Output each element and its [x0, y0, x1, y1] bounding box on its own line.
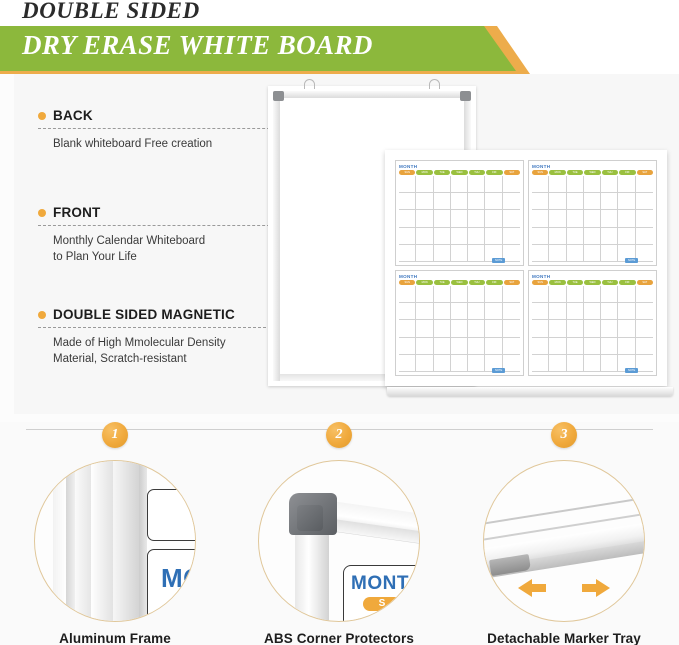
- calendar-cell: [532, 210, 549, 227]
- calendar-day-header-row: SUNMONTUEWEDTHUFRISAT: [399, 280, 520, 285]
- calendar-cell: [532, 176, 549, 193]
- annotation-back-body: Blank whiteboard Free creation: [38, 136, 300, 152]
- frame-profile-band: [113, 460, 139, 622]
- calendar-day-pill: SUN: [399, 170, 415, 175]
- calendar-cell: [601, 176, 618, 193]
- calendar-cell: [503, 193, 520, 210]
- calendar-cell: [451, 193, 468, 210]
- annotation-front-rule: [38, 225, 300, 226]
- annotation-front-body: Monthly Calendar Whiteboard to Plan Your…: [38, 233, 300, 266]
- calendar-cell: [567, 355, 584, 372]
- board-edge-line: [483, 494, 645, 525]
- calendar-cell: [503, 176, 520, 193]
- calendar-cell: [549, 303, 566, 320]
- calendar-grid: [399, 286, 520, 372]
- calendar-cell: [399, 286, 416, 303]
- calendar-cell: [399, 228, 416, 245]
- calendar-cell: [416, 228, 433, 245]
- calendar-cell: [567, 193, 584, 210]
- calendar-day-pill: SUN: [399, 280, 415, 285]
- calendar-cell: [584, 245, 601, 262]
- calendar-cell: [451, 355, 468, 372]
- feature-badge-2: 2: [326, 422, 352, 448]
- calendar-cell: [399, 355, 416, 372]
- calendar-cell: [549, 355, 566, 372]
- calendar-cell: [636, 176, 653, 193]
- photo-day-pill-2: S: [363, 597, 401, 611]
- calendar-cell: [532, 303, 549, 320]
- calendar-cell: [567, 228, 584, 245]
- calendar-cell: [451, 303, 468, 320]
- back-frame-rail-top: [273, 91, 471, 98]
- calendar-cell: [416, 320, 433, 337]
- calendar-cell: [532, 320, 549, 337]
- calendar-cell: [399, 210, 416, 227]
- calendar-cell: [567, 210, 584, 227]
- calendar-day-pill: SAT: [637, 170, 653, 175]
- calendar-cell: [416, 303, 433, 320]
- calendar-cell: [636, 193, 653, 210]
- calendar-cell: [416, 176, 433, 193]
- calendar-day-pill: WED: [584, 170, 600, 175]
- calendar-day-pill: TUE: [434, 280, 450, 285]
- calendar-cell: [584, 193, 601, 210]
- calendar-day-pill: TUE: [567, 170, 583, 175]
- calendar-day-pill: WED: [584, 280, 600, 285]
- corner-protector-icon: [273, 91, 284, 101]
- calendar-cell: [636, 320, 653, 337]
- calendar-cell: [532, 338, 549, 355]
- calendar-cell: [601, 228, 618, 245]
- calendar-cell: [636, 228, 653, 245]
- feature-aluminum-frame: 1 MO Aluminum Frame: [2, 422, 228, 645]
- whiteboard-front-calendar: MONTHSUNMONTUEWEDTHUFRISATNOTEMONTHSUNMO…: [385, 150, 667, 386]
- annotation-back: BACK Blank whiteboard Free creation: [38, 108, 300, 152]
- calendar-cell: [399, 320, 416, 337]
- annotation-front-title: FRONT: [53, 205, 101, 220]
- annotation-back-head: BACK: [38, 108, 300, 123]
- calendar-cell: [416, 338, 433, 355]
- calendar-cell: [434, 286, 451, 303]
- calendar-cell: [468, 320, 485, 337]
- calendar-cell: [468, 245, 485, 262]
- calendar-cell: [485, 193, 502, 210]
- calendar-cell: [601, 245, 618, 262]
- calendar-cell: [399, 193, 416, 210]
- calendar-cell: [399, 176, 416, 193]
- calendar-cell: [468, 210, 485, 227]
- calendar-month-label: MONTH: [399, 274, 520, 279]
- calendar-day-pill: SUN: [532, 280, 548, 285]
- feature-photo-1: MO: [34, 460, 196, 622]
- calendar-cell: [503, 210, 520, 227]
- calendar-cell: [485, 210, 502, 227]
- feature-detachable-marker-tray: 3 Detachable Marker Tray: [451, 422, 677, 645]
- arrow-left-tail: [532, 584, 546, 592]
- abs-corner-protector-inner: [297, 505, 323, 531]
- calendar-cell: [618, 210, 635, 227]
- calendar-cell: [636, 355, 653, 372]
- calendar-day-pill: SAT: [504, 280, 520, 285]
- calendar-cell: [485, 286, 502, 303]
- calendar-day-pill: MON: [416, 280, 432, 285]
- photo-month-text-2: MONT: [351, 573, 409, 595]
- calendar-cell: [485, 303, 502, 320]
- frame-profile-band: [53, 460, 66, 622]
- calendar-grid: [532, 176, 653, 262]
- calendar-cell: [618, 320, 635, 337]
- feature-photo-2: MONT S: [258, 460, 420, 622]
- calendar-grid: [532, 286, 653, 372]
- calendar-cell: [584, 338, 601, 355]
- calendar-cell: [434, 228, 451, 245]
- calendar-cell: [618, 176, 635, 193]
- calendar-cell: [416, 355, 433, 372]
- bullet-dot-icon: [38, 209, 46, 217]
- calendar-cell: [468, 193, 485, 210]
- calendar-cell: [567, 176, 584, 193]
- calendar-cell: [584, 176, 601, 193]
- calendar-cell: [399, 245, 416, 262]
- feature-photo-3: [483, 460, 645, 622]
- calendar-day-pill: THU: [602, 170, 618, 175]
- calendar-cell: [584, 355, 601, 372]
- calendar-note-label: NOTE: [625, 368, 638, 373]
- calendar-day-pill: THU: [469, 170, 485, 175]
- calendar-day-pill: MON: [416, 170, 432, 175]
- calendar-edge-card: [147, 489, 196, 541]
- calendar-cell: [601, 286, 618, 303]
- calendar-cell: [434, 245, 451, 262]
- arrow-right-icon: [596, 579, 610, 597]
- calendar-quadrant: MONTHSUNMONTUEWEDTHUFRISATNOTE: [395, 270, 524, 376]
- calendar-day-pill: SAT: [637, 280, 653, 285]
- calendar-month-label: MONTH: [399, 164, 520, 169]
- calendar-cell: [451, 320, 468, 337]
- calendar-cell: [416, 245, 433, 262]
- calendar-cell: [636, 303, 653, 320]
- feature-caption-3: Detachable Marker Tray: [451, 631, 677, 645]
- feature-caption-1: Aluminum Frame: [2, 631, 228, 645]
- calendar-cell: [601, 193, 618, 210]
- calendar-cell: [485, 320, 502, 337]
- calendar-cell: [532, 286, 549, 303]
- calendar-cell: [434, 176, 451, 193]
- feature-badge-3: 3: [551, 422, 577, 448]
- calendar-day-pill: WED: [451, 280, 467, 285]
- calendar-quadrant: MONTHSUNMONTUEWEDTHUFRISATNOTE: [395, 160, 524, 266]
- calendar-day-pill: SUN: [532, 170, 548, 175]
- calendar-cell: [468, 228, 485, 245]
- arrow-right-tail: [582, 584, 596, 592]
- calendar-cell: [434, 338, 451, 355]
- feature-badge-1: 1: [102, 422, 128, 448]
- bullet-dot-icon: [38, 112, 46, 120]
- calendar-cell: [503, 303, 520, 320]
- bullet-dot-icon: [38, 311, 46, 319]
- calendar-cell: [434, 303, 451, 320]
- calendar-cell: [549, 193, 566, 210]
- calendar-cell: [503, 286, 520, 303]
- annotation-front-head: FRONT: [38, 205, 300, 220]
- calendar-month-label: MONTH: [532, 274, 653, 279]
- calendar-cell: [532, 355, 549, 372]
- calendar-cell: [601, 320, 618, 337]
- calendar-cell: [549, 228, 566, 245]
- calendar-cell: [636, 210, 653, 227]
- calendar-cell: [434, 355, 451, 372]
- calendar-day-pill: FRI: [619, 170, 635, 175]
- photo-day-pill-1: [185, 599, 196, 612]
- calendar-cell: [399, 338, 416, 355]
- annotation-back-rule: [38, 128, 300, 129]
- photo-month-text-1: MO: [161, 563, 196, 594]
- annotation-front: FRONT Monthly Calendar Whiteboard to Pla…: [38, 205, 300, 266]
- calendar-cell: [451, 228, 468, 245]
- calendar-cell: [549, 338, 566, 355]
- calendar-quadrant-host: MONTHSUNMONTUEWEDTHUFRISATNOTEMONTHSUNMO…: [391, 156, 661, 380]
- feature-row: 1 MO Aluminum Frame 2: [0, 422, 679, 645]
- frame-profile-band: [91, 460, 113, 622]
- calendar-cell: [549, 286, 566, 303]
- arrow-left-icon: [518, 579, 532, 597]
- corner-protector-icon: [460, 91, 471, 101]
- header-title: DRY ERASE WHITE BOARD: [22, 30, 373, 61]
- infographic-root: DOUBLE SIDED DRY ERASE WHITE BOARD BACK …: [0, 0, 679, 645]
- calendar-day-header-row: SUNMONTUEWEDTHUFRISAT: [532, 170, 653, 175]
- calendar-cell: [468, 338, 485, 355]
- calendar-cell: [451, 338, 468, 355]
- calendar-cell: [618, 303, 635, 320]
- calendar-cell: [416, 193, 433, 210]
- calendar-cell: [485, 338, 502, 355]
- calendar-day-header-row: SUNMONTUEWEDTHUFRISAT: [399, 170, 520, 175]
- calendar-cell: [451, 176, 468, 193]
- calendar-cell: [503, 338, 520, 355]
- calendar-cell: [584, 286, 601, 303]
- calendar-cell: [434, 210, 451, 227]
- calendar-cell: [549, 245, 566, 262]
- calendar-cell: [451, 286, 468, 303]
- calendar-cell: [567, 338, 584, 355]
- calendar-day-pill: MON: [549, 280, 565, 285]
- calendar-cell: [549, 320, 566, 337]
- calendar-cell: [416, 210, 433, 227]
- calendar-cell: [503, 355, 520, 372]
- product-scene: BACK Blank whiteboard Free creation FRON…: [0, 74, 679, 422]
- header-banner: DRY ERASE WHITE BOARD: [0, 26, 530, 74]
- calendar-cell: [618, 286, 635, 303]
- calendar-day-pill: WED: [451, 170, 467, 175]
- calendar-cell: [503, 245, 520, 262]
- annotation-back-title: BACK: [53, 108, 93, 123]
- front-board-frame: MONTHSUNMONTUEWEDTHUFRISATNOTEMONTHSUNMO…: [385, 150, 667, 386]
- calendar-cell: [618, 338, 635, 355]
- calendar-cell: [416, 286, 433, 303]
- calendar-cell: [567, 303, 584, 320]
- calendar-day-pill: FRI: [619, 280, 635, 285]
- calendar-cell: [468, 176, 485, 193]
- calendar-cell: [549, 210, 566, 227]
- frame-profile-band: [75, 460, 91, 622]
- calendar-cell: [451, 210, 468, 227]
- calendar-day-pill: SAT: [504, 170, 520, 175]
- calendar-month-label: MONTH: [532, 164, 653, 169]
- calendar-day-pill: FRI: [486, 170, 502, 175]
- calendar-cell: [399, 303, 416, 320]
- calendar-cell: [567, 320, 584, 337]
- calendar-cell: [503, 228, 520, 245]
- calendar-cell: [567, 286, 584, 303]
- calendar-cell: [584, 303, 601, 320]
- marker-tray: [387, 387, 673, 396]
- calendar-day-pill: THU: [469, 280, 485, 285]
- calendar-day-pill: FRI: [486, 280, 502, 285]
- calendar-cell: [601, 210, 618, 227]
- calendar-day-pill: MON: [549, 170, 565, 175]
- calendar-cell: [567, 245, 584, 262]
- frame-profile-band: [66, 460, 75, 622]
- calendar-cell: [636, 286, 653, 303]
- calendar-cell: [532, 228, 549, 245]
- calendar-cell: [485, 176, 502, 193]
- feature-caption-2: ABS Corner Protectors: [226, 631, 452, 645]
- header-kicker: DOUBLE SIDED: [22, 0, 200, 24]
- calendar-grid: [399, 176, 520, 262]
- calendar-cell: [468, 355, 485, 372]
- calendar-cell: [636, 245, 653, 262]
- calendar-day-pill: TUE: [434, 170, 450, 175]
- calendar-cell: [584, 210, 601, 227]
- calendar-cell: [618, 228, 635, 245]
- calendar-cell: [584, 228, 601, 245]
- calendar-day-header-row: SUNMONTUEWEDTHUFRISAT: [532, 280, 653, 285]
- calendar-cell: [503, 320, 520, 337]
- calendar-day-pill: THU: [602, 280, 618, 285]
- feature-abs-corner-protectors: 2 MONT S ABS Corner Protectors: [226, 422, 452, 645]
- calendar-cell: [601, 355, 618, 372]
- calendar-cell: [434, 193, 451, 210]
- calendar-quadrant: MONTHSUNMONTUEWEDTHUFRISATNOTE: [528, 270, 657, 376]
- hanging-ring-icon: [304, 79, 315, 89]
- hanging-ring-icon: [429, 79, 440, 89]
- calendar-quadrant: MONTHSUNMONTUEWEDTHUFRISATNOTE: [528, 160, 657, 266]
- calendar-cell: [636, 338, 653, 355]
- calendar-cell: [468, 286, 485, 303]
- calendar-cell: [532, 193, 549, 210]
- calendar-cell: [549, 176, 566, 193]
- calendar-note-label: NOTE: [492, 258, 505, 263]
- calendar-cell: [468, 303, 485, 320]
- calendar-cell: [584, 320, 601, 337]
- calendar-cell: [451, 245, 468, 262]
- calendar-cell: [618, 193, 635, 210]
- calendar-note-label: NOTE: [492, 368, 505, 373]
- annotation-magnetic-title: DOUBLE SIDED MAGNETIC: [53, 307, 235, 322]
- calendar-cell: [434, 320, 451, 337]
- calendar-note-label: NOTE: [625, 258, 638, 263]
- calendar-cell: [601, 338, 618, 355]
- calendar-day-pill: TUE: [567, 280, 583, 285]
- calendar-cell: [485, 228, 502, 245]
- back-frame-rail-left: [273, 91, 280, 381]
- frame-profile-band: [139, 460, 147, 622]
- calendar-cell: [532, 245, 549, 262]
- calendar-cell: [601, 303, 618, 320]
